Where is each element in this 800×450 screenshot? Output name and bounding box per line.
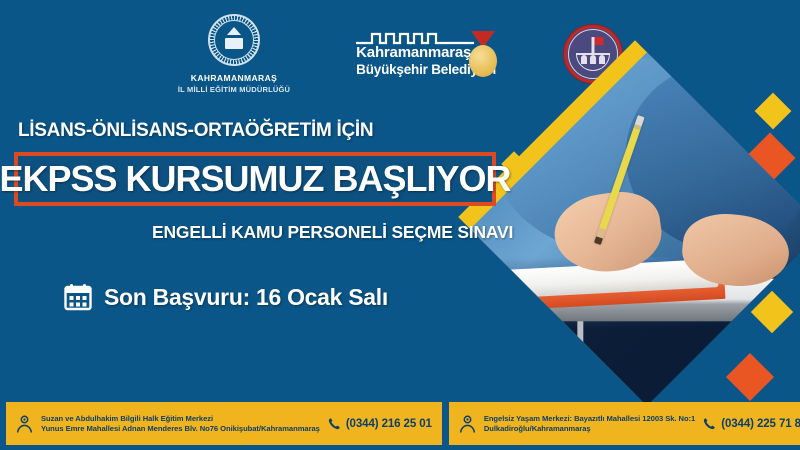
map-pin-icon xyxy=(16,414,33,434)
ministry-seal-icon xyxy=(208,14,260,66)
phone-icon xyxy=(328,417,341,430)
address-line-1: Suzan ve Abdulhakim Bilgili Halk Eğitim … xyxy=(41,414,320,424)
decor-diamond-yellow-2 xyxy=(751,291,793,333)
calendar-icon xyxy=(64,283,92,311)
address-line-2: Yunus Emre Mahallesi Adnan Menderes Blv.… xyxy=(41,424,320,434)
belediye-logo-line1: Kahramanmaraş xyxy=(356,44,471,61)
address-line-1: Engelsiz Yaşam Merkezi: Bayazıtlı Mahall… xyxy=(484,414,695,424)
contact-phone-1[interactable]: (0344) 216 25 01 xyxy=(328,417,432,430)
castle-wall-icon xyxy=(356,29,474,44)
phone-number-1: (0344) 216 25 01 xyxy=(346,418,432,430)
kicker-text: LİSANS-ÖNLİSANS-ORTAÖĞRETİM İÇİN xyxy=(18,120,373,142)
promo-banner: KAHRAMANMARAŞ İL MİLLİ EĞİTİM MÜDÜRLÜĞÜ … xyxy=(0,0,800,450)
phone-icon xyxy=(703,417,716,430)
decor-diamond-orange-2 xyxy=(726,353,774,401)
meb-logo-line1: KAHRAMANMARAŞ xyxy=(191,73,277,83)
headline-box: EKPSS KURSUMUZ BAŞLIYOR xyxy=(14,152,496,206)
contact-phone-2[interactable]: (0344) 225 71 88 xyxy=(703,417,800,430)
subtitle-text: ENGELLİ KAMU PERSONELİ SEÇME SINAVI xyxy=(152,222,513,243)
contact-block-1: Suzan ve Abdulhakim Bilgili Halk Eğitim … xyxy=(6,402,442,445)
page-title: EKPSS KURSUMUZ BAŞLIYOR xyxy=(0,158,511,200)
meb-logo: KAHRAMANMARAŞ İL MİLLİ EĞİTİM MÜDÜRLÜĞÜ xyxy=(178,14,290,94)
meb-logo-line2: İL MİLLİ EĞİTİM MÜDÜRLÜĞÜ xyxy=(178,85,290,94)
contact-address-2: Engelsiz Yaşam Merkezi: Bayazıtlı Mahall… xyxy=(484,414,695,433)
deadline-row: Son Başvuru: 16 Ocak Salı xyxy=(64,283,388,311)
belediye-logo: Kahramanmaraş Büyükşehir Belediyesi xyxy=(352,23,502,85)
phone-number-2: (0344) 225 71 88 xyxy=(721,418,800,430)
contact-address-1: Suzan ve Abdulhakim Bilgili Halk Eğitim … xyxy=(41,414,320,433)
map-pin-icon xyxy=(459,414,476,434)
deadline-text: Son Başvuru: 16 Ocak Salı xyxy=(104,284,388,311)
address-line-2: Dulkadiroğlu/Kahramanmaraş xyxy=(484,424,695,434)
contact-block-2: Engelsiz Yaşam Merkezi: Bayazıtlı Mahall… xyxy=(449,402,800,445)
footer-bar: Suzan ve Abdulhakim Bilgili Halk Eğitim … xyxy=(0,402,800,450)
medal-icon xyxy=(468,31,498,83)
